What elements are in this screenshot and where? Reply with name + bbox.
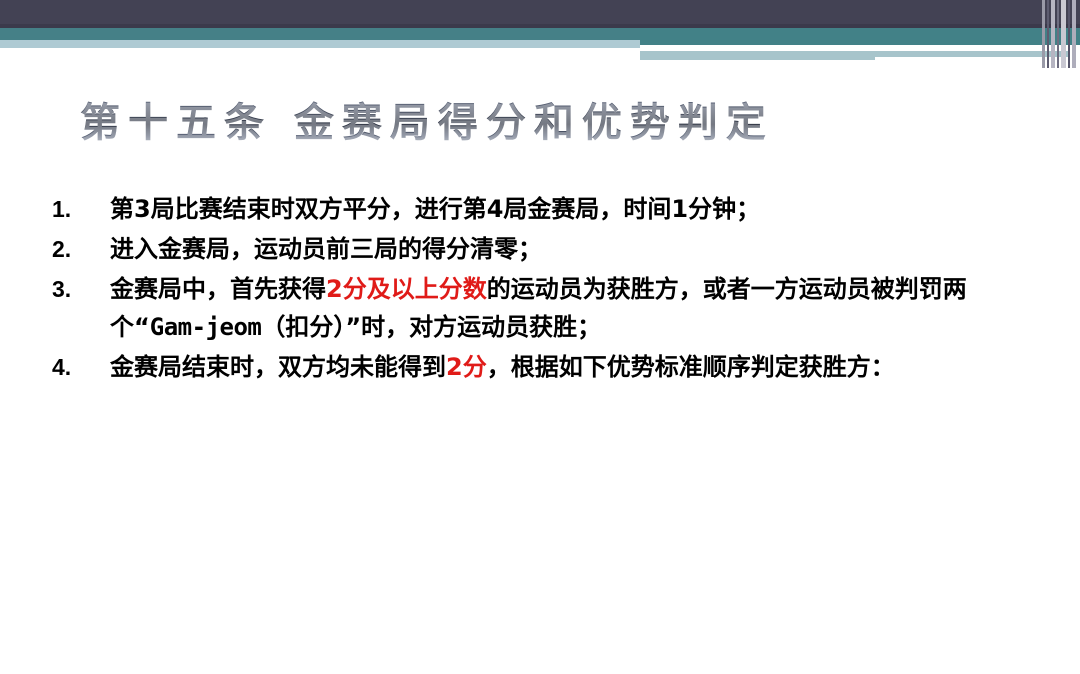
slide-canvas: 第十五条 金赛局得分和优势判定 1.第3局比赛结束时双方平分，进行第4局金赛局，… bbox=[0, 0, 1080, 674]
corner-stripes-decoration bbox=[1040, 0, 1080, 68]
corner-stripe-5 bbox=[1068, 0, 1070, 68]
page-title: 第十五条 金赛局得分和优势判定 bbox=[80, 92, 774, 154]
text-run: ，根据如下优势标准顺序判定获胜方： bbox=[487, 353, 895, 381]
list-item: 3.金赛局中，首先获得2分及以上分数的运动员为获胜方，或者一方运动员被判罚两个“… bbox=[52, 270, 1052, 346]
title-area: 第十五条 金赛局得分和优势判定 bbox=[0, 92, 1080, 164]
list-item-text: 进入金赛局，运动员前三局的得分清零； bbox=[110, 230, 1052, 268]
list-item-number: 3. bbox=[52, 270, 110, 308]
header-band-navy bbox=[0, 0, 1080, 27]
corner-stripe-2 bbox=[1051, 0, 1055, 68]
text-run: Gam-jeom bbox=[150, 313, 262, 341]
list-item: 1.第3局比赛结束时双方平分，进行第4局金赛局，时间1分钟； bbox=[52, 190, 1052, 228]
header-band-teal-right bbox=[640, 28, 1080, 45]
corner-stripe-3 bbox=[1057, 0, 1059, 68]
list-item-text: 金赛局结束时，双方均未能得到2分，根据如下优势标准顺序判定获胜方： bbox=[110, 348, 1052, 386]
highlighted-text: 2分及以上分数 bbox=[326, 275, 487, 303]
corner-stripe-6 bbox=[1072, 0, 1076, 68]
content-list: 1.第3局比赛结束时双方平分，进行第4局金赛局，时间1分钟；2.进入金赛局，运动… bbox=[52, 190, 1052, 388]
corner-stripe-4 bbox=[1061, 0, 1066, 68]
list-item-number: 1. bbox=[52, 190, 110, 228]
text-run: 金赛局中，首先获得 bbox=[110, 275, 326, 303]
corner-stripe-1 bbox=[1047, 0, 1049, 68]
list-item: 2.进入金赛局，运动员前三局的得分清零； bbox=[52, 230, 1052, 268]
text-run: 金赛局结束时，双方均未能得到 bbox=[110, 353, 446, 381]
highlighted-text: 2分 bbox=[446, 353, 487, 381]
list-item-text: 金赛局中，首先获得2分及以上分数的运动员为获胜方，或者一方运动员被判罚两个“Ga… bbox=[110, 270, 1052, 346]
text-run: （扣分）”时，对方运动员获胜； bbox=[261, 313, 601, 341]
header-band-pale-left bbox=[0, 40, 640, 48]
corner-stripe-0 bbox=[1042, 0, 1045, 68]
list-item-number: 4. bbox=[52, 348, 110, 386]
list-item-text: 第3局比赛结束时双方平分，进行第4局金赛局，时间1分钟； bbox=[110, 190, 1052, 228]
text-run: 进入金赛局，运动员前三局的得分清零； bbox=[110, 235, 542, 263]
text-run: 第3局比赛结束时双方平分，进行第4局金赛局，时间1分钟； bbox=[110, 195, 760, 223]
list-item: 4.金赛局结束时，双方均未能得到2分，根据如下优势标准顺序判定获胜方： bbox=[52, 348, 1052, 386]
list-item-number: 2. bbox=[52, 230, 110, 268]
